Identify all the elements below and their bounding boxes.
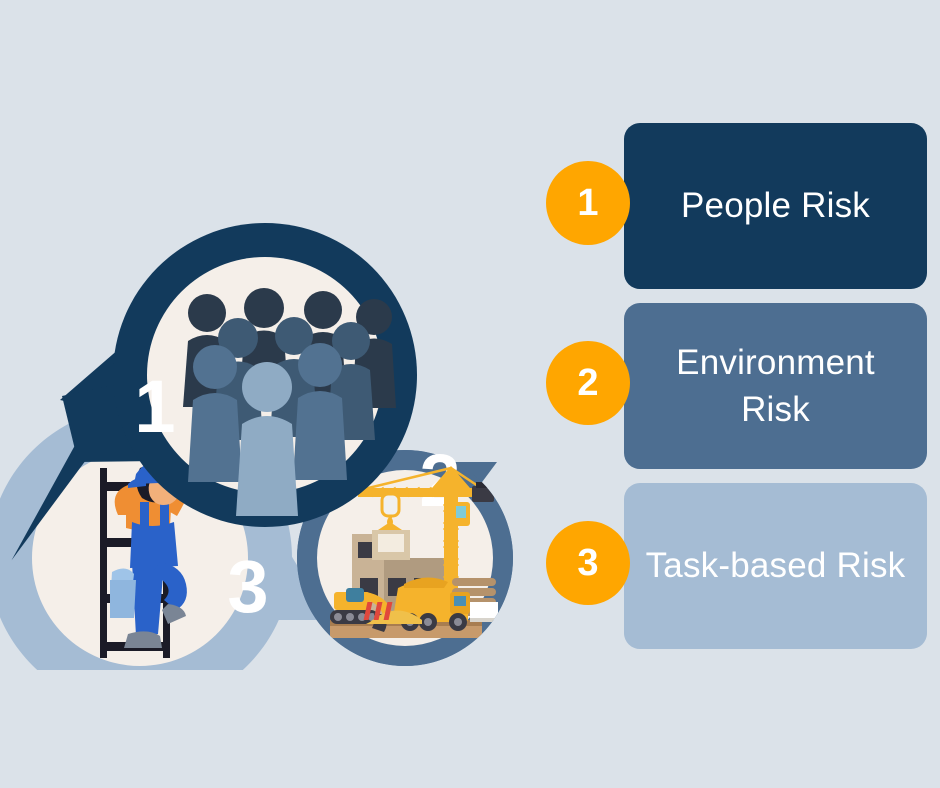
pin-1-number: 1 [134,365,175,448]
risk-card-label-task-based: Task-based Risk [646,542,906,589]
risk-badge-number-3: 3 [577,544,598,582]
risk-badge-number-1: 1 [577,184,598,222]
risk-badge-3[interactable]: 3 [546,521,630,605]
risk-pin-cluster: 3 [0,110,560,670]
pin-3-number: 3 [227,545,268,628]
risk-row-2: Environment Risk 2 [546,298,940,468]
infographic-canvas: 3 [0,0,940,788]
risk-badge-2[interactable]: 2 [546,341,630,425]
risk-badge-number-2: 2 [577,364,598,402]
risk-badge-1[interactable]: 1 [546,161,630,245]
risk-card-people[interactable]: People Risk [624,123,927,289]
risk-row-1: People Risk 1 [546,118,940,288]
risk-card-environment[interactable]: Environment Risk [624,303,927,469]
risk-row-3: Task-based Risk 3 [546,478,940,648]
risk-card-list: People Risk 1 Environment Risk 2 Task-ba… [546,118,940,654]
risk-card-task-based[interactable]: Task-based Risk [624,483,927,649]
risk-card-label-people: People Risk [681,182,870,229]
risk-card-label-environment: Environment Risk [642,339,909,434]
